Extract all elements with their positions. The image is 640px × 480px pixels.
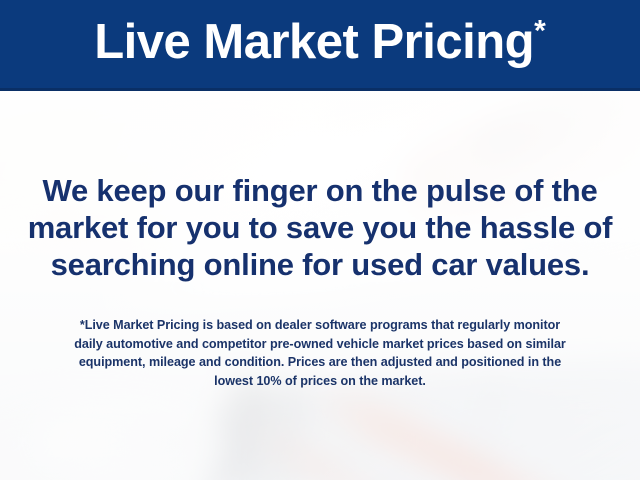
- disclaimer-line-3: equipment, mileage and condition. Prices…: [22, 353, 618, 372]
- page-title-text: Live Market Pricing: [94, 15, 534, 69]
- headline-line-2: market for you to save you the hassle of: [0, 209, 640, 246]
- page-title: Live Market Pricing*: [94, 18, 546, 71]
- disclaimer-line-2: daily automotive and competitor pre-owne…: [22, 335, 618, 354]
- disclaimer-line-4: lowest 10% of prices on the market.: [22, 372, 618, 391]
- disclaimer-text: *Live Market Pricing is based on dealer …: [22, 316, 618, 390]
- bg-shape-lower-left-blur-2: [40, 410, 210, 470]
- headline-line-1: We keep our finger on the pulse of the: [0, 172, 640, 209]
- headline-line-3: searching online for used car values.: [0, 246, 640, 283]
- live-market-pricing-banner: Live Market Pricing* We keep our finger …: [0, 0, 640, 480]
- page-title-asterisk: *: [534, 14, 546, 47]
- headline: We keep our finger on the pulse of the m…: [0, 172, 640, 283]
- disclaimer-line-1: *Live Market Pricing is based on dealer …: [22, 316, 618, 335]
- header-band: Live Market Pricing*: [0, 0, 640, 91]
